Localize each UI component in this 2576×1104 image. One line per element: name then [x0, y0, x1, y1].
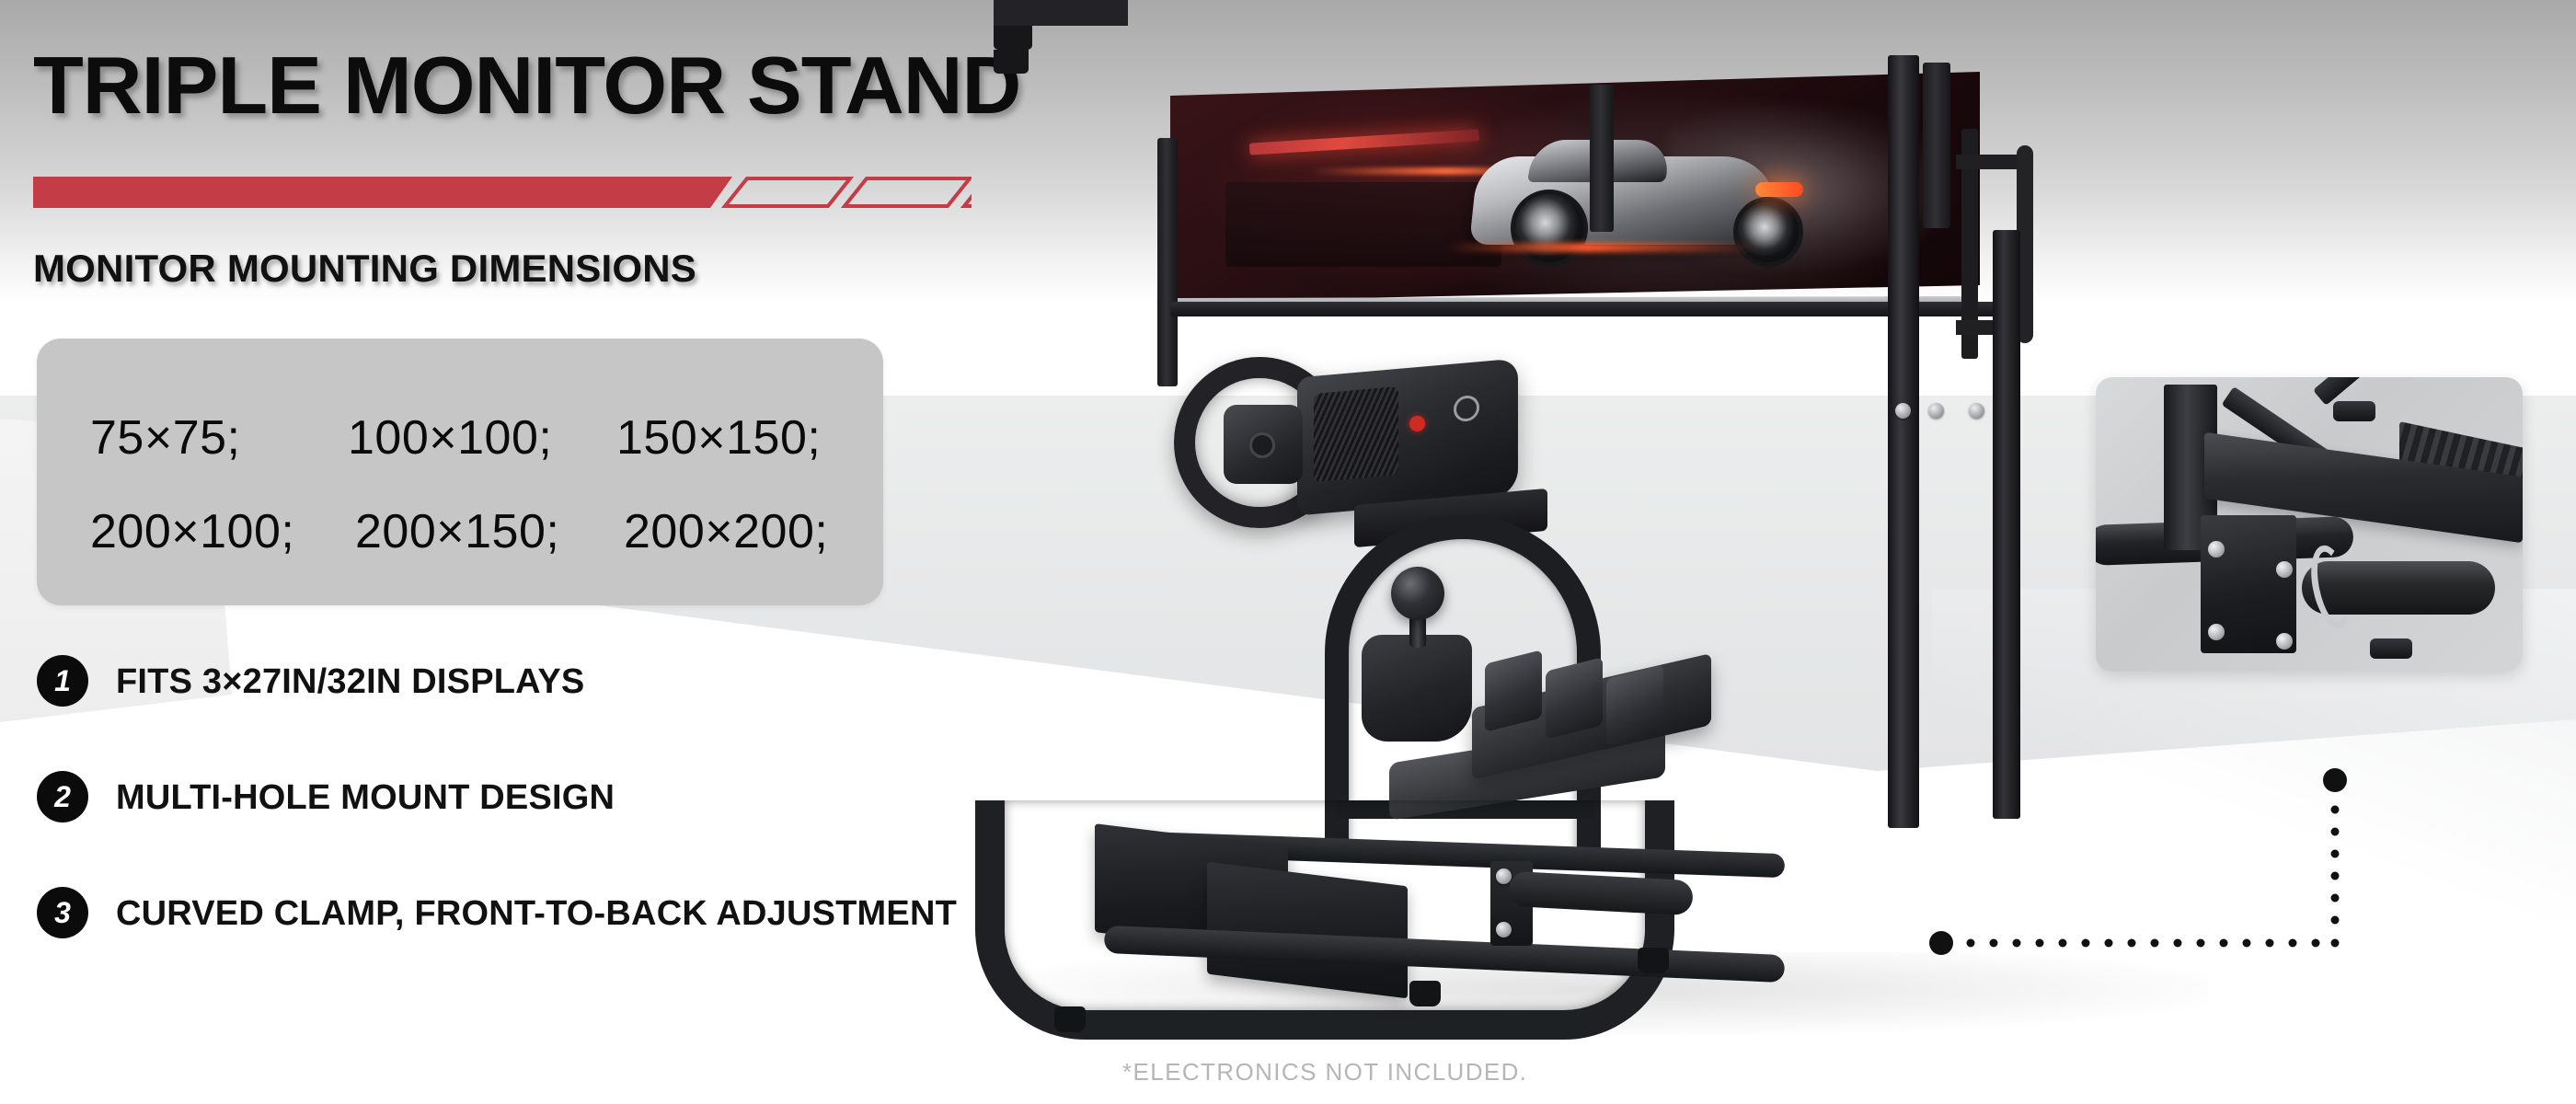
screen-car-wheel — [1511, 190, 1588, 267]
feature-label: MULTI-HOLE MOUNT DESIGN — [116, 778, 615, 818]
feature-item: 1 FITS 3×27IN/32IN DISPLAYS — [31, 655, 1043, 712]
bolt — [1895, 403, 1911, 419]
stand-foot-left — [994, 26, 1032, 50]
feature-number-badge: 3 — [37, 887, 88, 938]
base-foot — [1409, 981, 1441, 1006]
accent-rule — [33, 171, 972, 213]
screen-car-underglow — [1446, 243, 1759, 252]
steering-wheel-center — [1249, 432, 1275, 458]
bolt — [1496, 922, 1512, 937]
feature-number-badge: 1 — [37, 655, 88, 707]
feature-label: CURVED CLAMP, FRONT-TO-BACK ADJUSTMENT — [116, 894, 957, 934]
page-title: TRIPLE MONITOR STAND — [33, 39, 1020, 132]
section-subtitle: MONITOR MOUNTING DIMENSIONS — [33, 247, 696, 291]
screen-car-taillight — [1755, 182, 1803, 197]
inset-bolt — [2208, 541, 2225, 558]
stand-foot-right — [994, 50, 1029, 74]
dimension-value: 200×150; — [355, 504, 624, 559]
bolt — [1928, 403, 1944, 419]
inset-lock-pin-ring — [2305, 542, 2358, 632]
bolt — [1496, 868, 1512, 884]
base-foot — [1638, 948, 1669, 973]
bolt — [1969, 403, 1984, 419]
monitor-post-left — [1157, 138, 1178, 386]
base-foot — [1054, 1006, 1086, 1032]
wheelbase-vent-grille — [1314, 386, 1398, 482]
dimension-value: 200×100; — [90, 504, 355, 559]
dimension-value: 75×75; — [90, 410, 348, 466]
stand-crossbar-upper — [994, 0, 1128, 13]
dimensions-row: 200×100; 200×150; 200×200; — [90, 504, 828, 559]
dimensions-box: 75×75; 100×100; 150×150; 200×100; 200×15… — [37, 339, 883, 605]
screen-car-rear-wing — [1249, 129, 1479, 155]
stand-mast-left — [1888, 55, 1919, 828]
feature-item: 2 MULTI-HOLE MOUNT DESIGN — [31, 771, 1043, 828]
info-panel: TRIPLE MONITOR STAND MONITOR MOUNTING DI… — [0, 0, 1058, 1104]
inset-foot-cap — [2333, 401, 2375, 421]
pedal-throttle — [1606, 664, 1663, 746]
dimension-value: 100×100; — [348, 410, 616, 466]
inset-bolt — [2208, 624, 2225, 640]
shifter-body — [1362, 635, 1472, 742]
feature-list: 1 FITS 3×27IN/32IN DISPLAYS 2 MULTI-HOLE… — [31, 655, 1043, 1003]
monitor-post-center — [1590, 85, 1614, 232]
feature-item: 3 CURVED CLAMP, FRONT-TO-BACK ADJUSTMENT — [31, 887, 1043, 944]
inset-bolt — [2276, 561, 2293, 578]
wheelbase-red-button — [1409, 416, 1425, 431]
inset-bolt — [2276, 633, 2293, 650]
shifter-knob — [1391, 567, 1444, 620]
monitor-rail — [1170, 302, 1998, 316]
stand-crossbar-lower — [994, 13, 1128, 26]
inset-foot-cap — [2370, 638, 2412, 659]
pedal-clutch — [1485, 650, 1542, 731]
pedal-brake — [1546, 657, 1603, 739]
feature-label: FITS 3×27IN/32IN DISPLAYS — [116, 662, 584, 702]
callout-leader-line — [1886, 745, 2364, 966]
dimension-value: 200×200; — [624, 504, 828, 559]
monitor-screen — [1170, 72, 1980, 302]
feature-number-badge: 2 — [37, 771, 88, 822]
dimensions-row: 75×75; 100×100; 150×150; — [90, 410, 821, 466]
monitor-post-right — [1923, 63, 1950, 228]
detail-inset-card — [2096, 377, 2523, 672]
screen-garage-background — [1225, 182, 1501, 267]
dimension-value: 150×150; — [616, 410, 821, 466]
stand-mast-right — [1993, 230, 2020, 819]
screen-car-wheel — [1733, 197, 1803, 267]
